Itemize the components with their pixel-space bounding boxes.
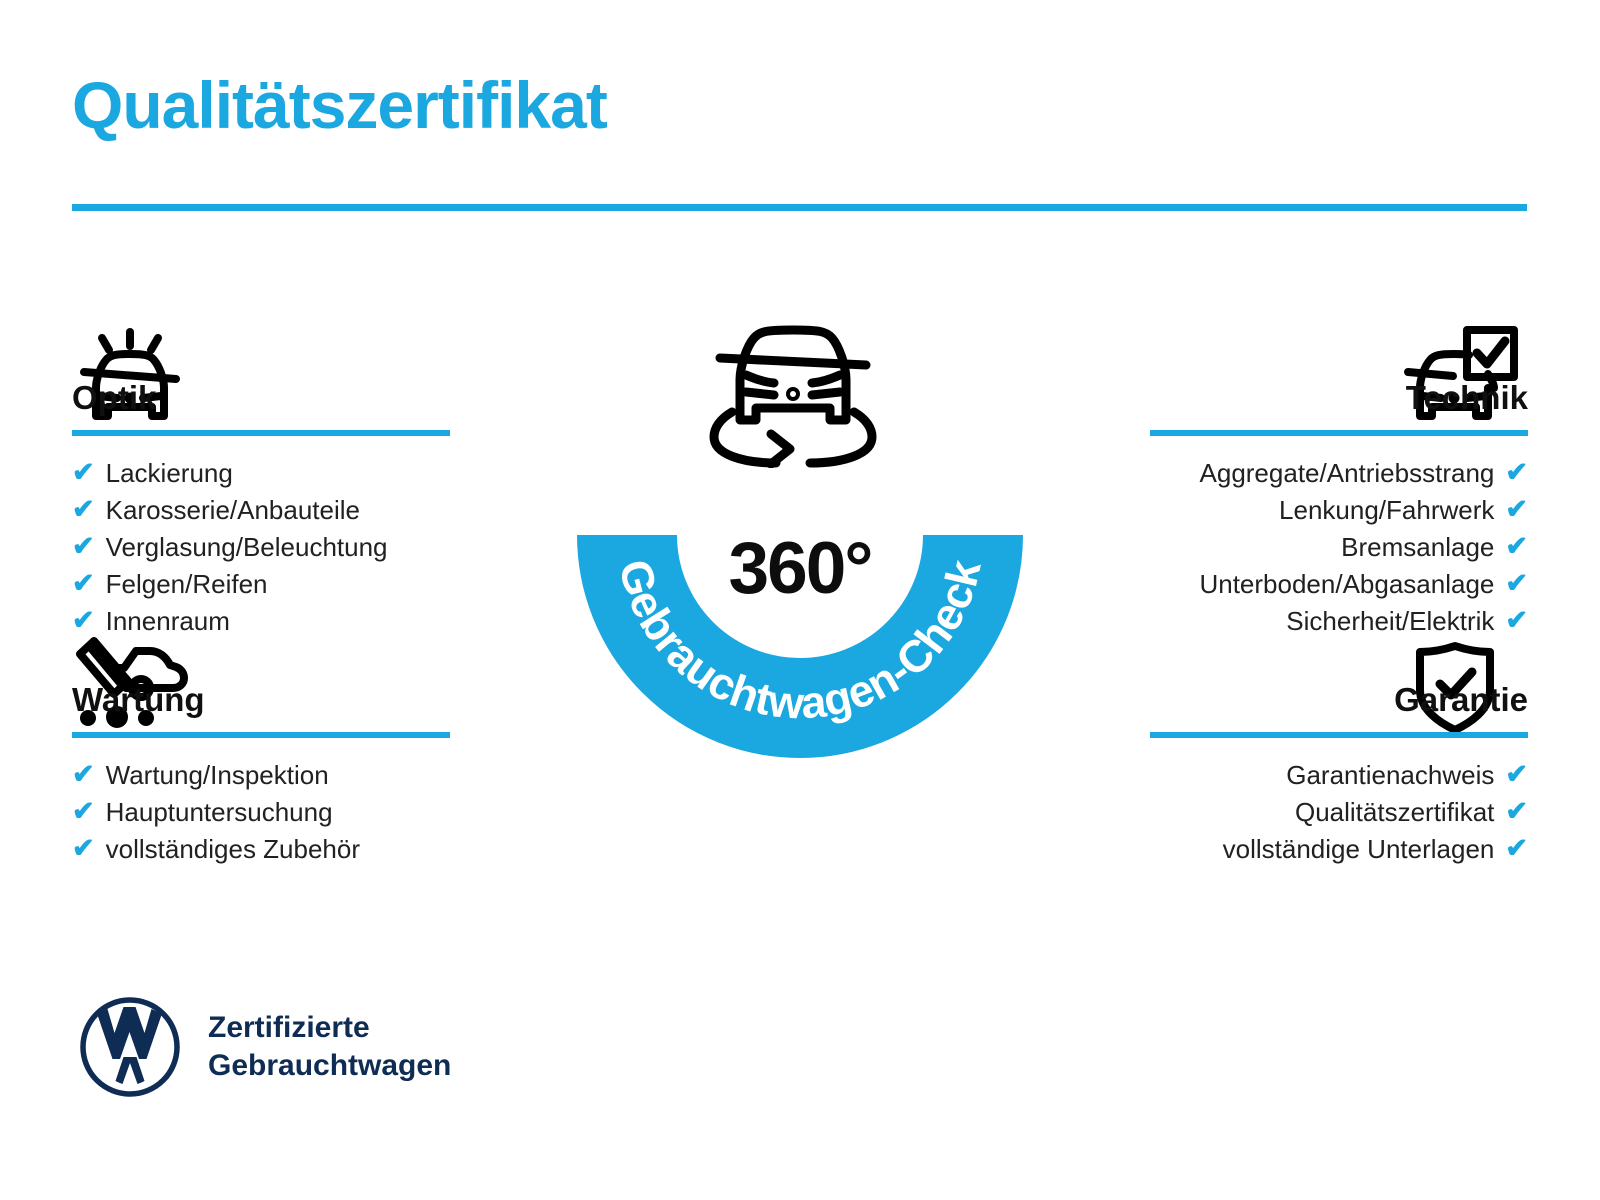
list-item: ✔Lackierung <box>72 454 592 491</box>
list-item-label: Bremsanlage <box>1341 534 1494 560</box>
check-icon: ✔ <box>1505 496 1528 523</box>
list-item: Unterboden/Abgasanlage✔ <box>1008 565 1528 602</box>
check-icon: ✔ <box>1505 570 1528 597</box>
check-icon: ✔ <box>72 496 95 523</box>
list-item: Garantienachweis✔ <box>1008 756 1528 793</box>
section-garantie-title: Garantie <box>1394 683 1528 718</box>
section-wartung-divider <box>72 732 450 738</box>
section-technik-title: Technik <box>1406 381 1528 416</box>
list-item-label: Wartung/Inspektion <box>106 762 329 788</box>
list-item: ✔Hauptuntersuchung <box>72 793 592 830</box>
section-wartung-header: Wartung <box>72 632 592 718</box>
check-icon: ✔ <box>72 835 95 862</box>
section-wartung-title: Wartung <box>72 683 205 718</box>
check-icon: ✔ <box>1505 761 1528 788</box>
list-item: ✔vollständiges Zubehör <box>72 830 592 867</box>
page-title: Qualitätszertifikat <box>72 72 607 138</box>
list-item-label: Aggregate/Antriebsstrang <box>1200 460 1495 486</box>
list-item: ✔Verglasung/Beleuchtung <box>72 528 592 565</box>
section-optik-header: Optik <box>72 330 592 416</box>
section-optik-list: ✔Lackierung ✔Karosserie/Anbauteile ✔Verg… <box>72 454 592 639</box>
list-item: Lenkung/Fahrwerk✔ <box>1008 491 1528 528</box>
check-icon: ✔ <box>72 570 95 597</box>
check-icon: ✔ <box>72 761 95 788</box>
list-item-label: vollständiges Zubehör <box>106 836 360 862</box>
check-icon: ✔ <box>1505 835 1528 862</box>
list-item: ✔Karosserie/Anbauteile <box>72 491 592 528</box>
list-item-label: Hauptuntersuchung <box>106 799 333 825</box>
section-garantie-header: Garantie <box>1008 632 1528 718</box>
list-item-label: Verglasung/Beleuchtung <box>106 534 388 560</box>
list-item-label: Innenraum <box>106 608 230 634</box>
section-optik-title: Optik <box>72 381 156 416</box>
check-icon: ✔ <box>72 798 95 825</box>
section-technik-header: Technik <box>1008 330 1528 416</box>
check-icon: ✔ <box>1505 798 1528 825</box>
section-garantie-divider <box>1150 732 1528 738</box>
list-item-label: Lenkung/Fahrwerk <box>1279 497 1494 523</box>
list-item: ✔Wartung/Inspektion <box>72 756 592 793</box>
list-item-label: vollständige Unterlagen <box>1223 836 1495 862</box>
list-item-label: Qualitätszertifikat <box>1295 799 1494 825</box>
badge-center-label: 360° <box>565 532 1035 605</box>
section-technik-divider <box>1150 430 1528 436</box>
section-technik-list: Aggregate/Antriebsstrang✔ Lenkung/Fahrwe… <box>1008 454 1528 639</box>
check-icon: ✔ <box>1505 533 1528 560</box>
certificate-page: Qualitätszertifikat Optik ✔Lackier <box>0 0 1600 1200</box>
list-item: Aggregate/Antriebsstrang✔ <box>1008 454 1528 491</box>
section-wartung: Wartung ✔Wartung/Inspektion ✔Hauptunters… <box>72 632 592 867</box>
check-icon: ✔ <box>72 533 95 560</box>
section-optik: Optik ✔Lackierung ✔Karosserie/Anbauteile… <box>72 330 592 639</box>
section-technik: Technik Aggregate/Antriebsstrang✔ Lenkun… <box>1008 330 1528 639</box>
section-garantie: Garantie Garantienachweis✔ Qualitätszert… <box>1008 632 1528 867</box>
check-icon: ✔ <box>1505 607 1528 634</box>
header-divider <box>72 204 1527 211</box>
footer-line-1: Zertifizierte <box>208 1009 451 1047</box>
list-item-label: Lackierung <box>106 460 233 486</box>
vw-logo <box>78 995 182 1099</box>
section-optik-divider <box>72 430 450 436</box>
list-item: vollständige Unterlagen✔ <box>1008 830 1528 867</box>
list-item-label: Sicherheit/Elektrik <box>1286 608 1494 634</box>
list-item-label: Karosserie/Anbauteile <box>106 497 360 523</box>
list-item-label: Garantienachweis <box>1286 762 1494 788</box>
check-icon: ✔ <box>1505 459 1528 486</box>
check-icon: ✔ <box>72 607 95 634</box>
check-icon: ✔ <box>72 459 95 486</box>
list-item-label: Unterboden/Abgasanlage <box>1199 571 1494 597</box>
list-item: Qualitätszertifikat✔ <box>1008 793 1528 830</box>
section-wartung-list: ✔Wartung/Inspektion ✔Hauptuntersuchung ✔… <box>72 756 592 867</box>
footer-branding: Zertifizierte Gebrauchtwagen <box>78 995 451 1099</box>
list-item: Bremsanlage✔ <box>1008 528 1528 565</box>
footer-line-2: Gebrauchtwagen <box>208 1047 451 1085</box>
footer-text: Zertifizierte Gebrauchtwagen <box>208 1009 451 1086</box>
section-garantie-list: Garantienachweis✔ Qualitätszertifikat✔ v… <box>1008 756 1528 867</box>
360-check-badge: Gebrauchtwagen-Check 360° <box>565 300 1035 770</box>
list-item: ✔Felgen/Reifen <box>72 565 592 602</box>
list-item-label: Felgen/Reifen <box>106 571 268 597</box>
car-rotate-360-icon <box>698 308 888 468</box>
